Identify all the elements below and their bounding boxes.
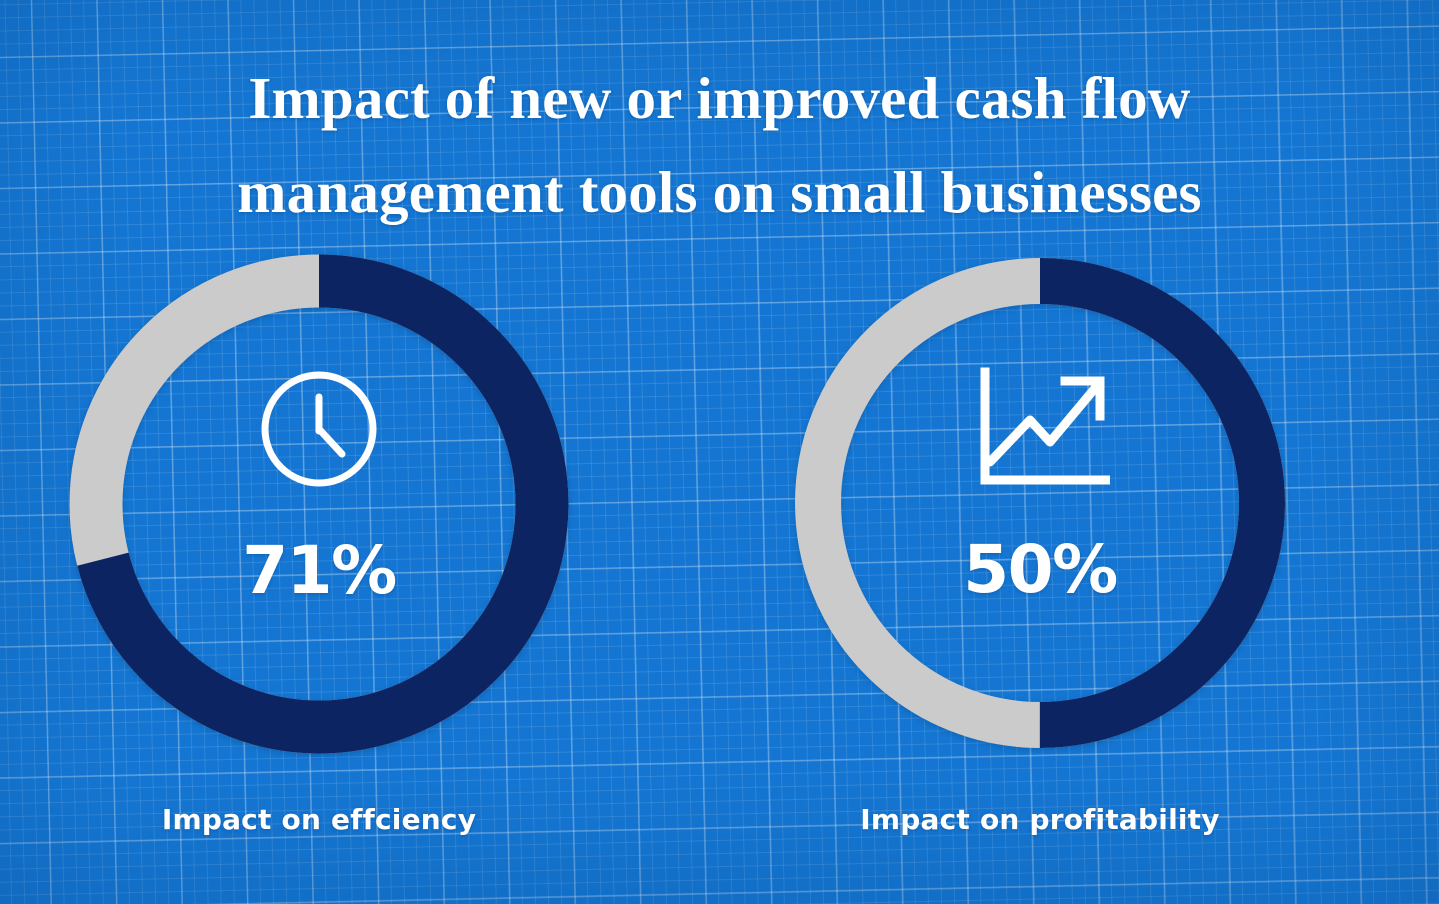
donut-ring-efficiency [69,254,569,754]
clock-icon [256,366,382,492]
caption-efficiency: Impact on effciency [69,800,569,840]
donut-chart-efficiency: 71% [69,254,569,754]
growth-chart-icon-slot [790,365,1290,491]
donut-ring-profitability [790,253,1290,753]
page-title-line-2: management tools on small businesses [0,142,1439,242]
page-title-line-1: Impact of new or improved cash flow [0,48,1439,148]
caption-profitability: Impact on profitability [790,800,1290,840]
infographic-canvas: Impact of new or improved cash flow mana… [0,0,1439,904]
donut-chart-profitability: 50% [790,253,1290,753]
growth-chart-icon [970,362,1110,494]
clock-icon-slot [69,366,569,492]
value-label-efficiency: 71% [69,538,569,604]
page-title: Impact of new or improved cash flow mana… [0,48,1439,242]
value-label-profitability: 50% [790,537,1290,603]
